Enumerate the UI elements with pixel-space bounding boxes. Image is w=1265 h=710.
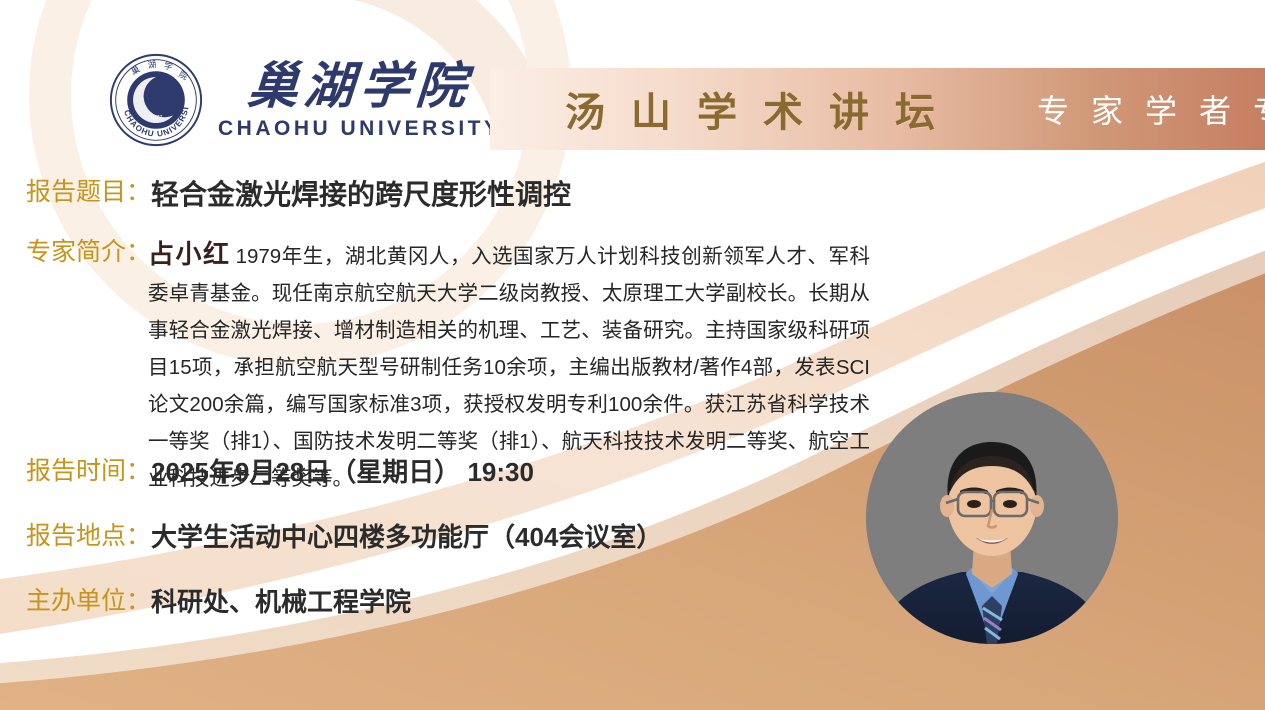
university-crest-icon: 1977 CHAOHU UNIVERSITY 巢 湖 学 院 <box>108 52 204 148</box>
forum-banner: 汤 山 学 术 讲 坛 专 家 学 者 专 场 <box>490 68 1265 150</box>
university-logo: 1977 CHAOHU UNIVERSITY 巢 湖 学 院 巢湖学院 CHAO… <box>108 52 502 148</box>
lecture-title-value: 轻合金激光焊接的跨尺度形性调控 <box>151 176 571 214</box>
speaker-name: 占小红 <box>148 239 231 269</box>
speaker-bio-label: 专家简介： <box>26 236 151 270</box>
lecture-organizer-label: 主办单位： <box>26 585 151 619</box>
university-name-en: CHAOHU UNIVERSITY <box>218 118 502 139</box>
svg-text:湖: 湖 <box>147 59 157 70</box>
lecture-venue-value: 大学生活动中心四楼多功能厅（404会议室） <box>151 520 662 555</box>
lecture-venue-label: 报告地点： <box>26 520 151 554</box>
lecture-venue-row: 报告地点： 大学生活动中心四楼多功能厅（404会议室） <box>26 520 662 555</box>
lecture-time-label: 报告时间： <box>26 455 151 489</box>
university-name-cn: 巢湖学院 <box>246 61 473 111</box>
lecture-organizer-row: 主办单位： 科研处、机械工程学院 <box>26 585 662 620</box>
lecture-organizer-value: 科研处、机械工程学院 <box>151 585 411 620</box>
university-name-block: 巢湖学院 CHAOHU UNIVERSITY <box>218 61 502 139</box>
lecture-meta-list: 报告时间： 2025年9月28日（星期日） 19:30 报告地点： 大学生活动中… <box>26 455 662 650</box>
poster-canvas: 1977 CHAOHU UNIVERSITY 巢 湖 学 院 巢湖学院 CHAO… <box>0 0 1265 710</box>
poster-header: 1977 CHAOHU UNIVERSITY 巢 湖 学 院 巢湖学院 CHAO… <box>0 0 1265 160</box>
forum-banner-subtitle: 专 家 学 者 专 场 <box>1037 86 1265 132</box>
lecture-title-label: 报告题目： <box>26 176 151 210</box>
speaker-portrait <box>866 392 1118 644</box>
svg-text:1977: 1977 <box>150 115 163 121</box>
speaker-portrait-image <box>866 392 1118 644</box>
lecture-time-row: 报告时间： 2025年9月28日（星期日） 19:30 <box>26 455 662 490</box>
speaker-bio-text: 1979年生，湖北黄冈人，入选国家万人计划科技创新领军人才、军科委卓青基金。现任… <box>148 245 870 490</box>
lecture-title-row: 报告题目： 轻合金激光焊接的跨尺度形性调控 <box>26 176 571 214</box>
forum-banner-title: 汤 山 学 术 讲 坛 <box>565 80 943 138</box>
lecture-time-value: 2025年9月28日（星期日） 19:30 <box>151 455 534 490</box>
